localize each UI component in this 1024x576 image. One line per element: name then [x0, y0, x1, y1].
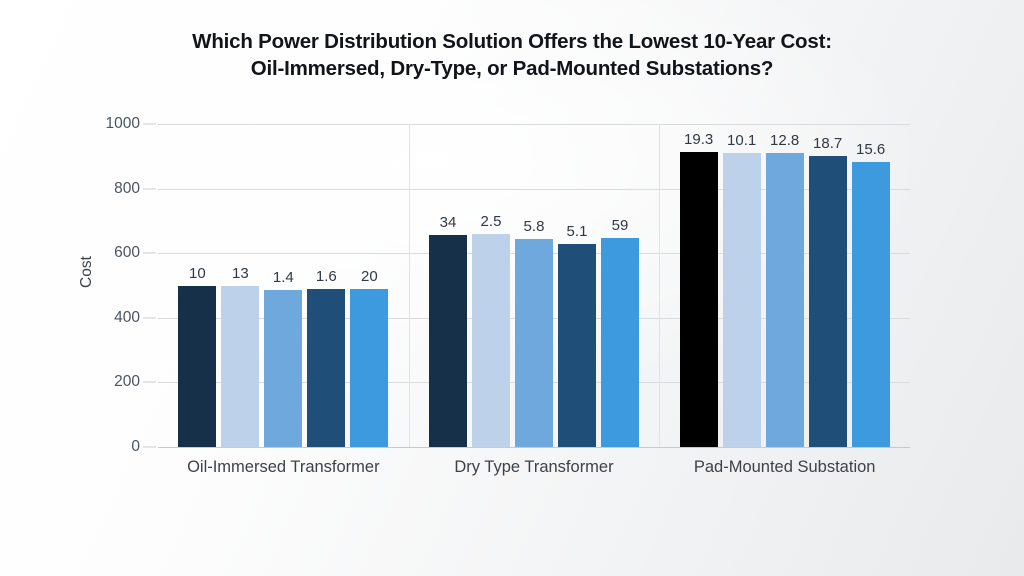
- y-tick-mark-800: [143, 188, 156, 189]
- y-tick-label-400: 400: [114, 309, 140, 327]
- bar-slot: 10: [178, 124, 216, 447]
- bar-slot: 5.8: [515, 124, 553, 447]
- bar[interactable]: [350, 289, 388, 447]
- bar-slot: 15.6: [852, 124, 890, 447]
- bar[interactable]: [472, 234, 510, 447]
- bar[interactable]: [766, 153, 804, 447]
- y-axis-title: Cost: [78, 256, 96, 288]
- bar-value-label: 5.8: [524, 218, 545, 235]
- bar[interactable]: [809, 156, 847, 447]
- y-tick-label-800: 800: [114, 180, 140, 198]
- bar-value-label: 1.4: [273, 269, 294, 286]
- bar-value-label: 10: [189, 265, 206, 282]
- bar-value-label: 12.8: [770, 132, 799, 149]
- bar[interactable]: [852, 162, 890, 447]
- plot-area: 0200400600800100010131.41.620342.55.85.1…: [158, 124, 910, 447]
- y-tick-mark-200: [143, 382, 156, 383]
- bar-value-label: 5.1: [567, 223, 588, 240]
- bar-value-label: 20: [361, 268, 378, 285]
- bars-row: 19.310.112.818.715.6: [659, 124, 910, 447]
- y-tick-mark-0: [143, 447, 156, 448]
- x-category-label-2: Dry Type Transformer: [409, 458, 660, 477]
- gridline-0: [158, 447, 910, 448]
- bar-slot: 34: [429, 124, 467, 447]
- bar-value-label: 1.6: [316, 268, 337, 285]
- bar[interactable]: [429, 235, 467, 447]
- bar-group-1: 10131.41.620: [158, 124, 409, 447]
- bar[interactable]: [307, 289, 345, 447]
- bar-group-3: 19.310.112.818.715.6: [659, 124, 910, 447]
- bar-value-label: 10.1: [727, 132, 756, 149]
- bar-value-label: 18.7: [813, 135, 842, 152]
- bar-slot: 1.6: [307, 124, 345, 447]
- bar[interactable]: [178, 286, 216, 447]
- bars-row: 10131.41.620: [158, 124, 409, 447]
- bar-slot: 18.7: [809, 124, 847, 447]
- chart-title: Which Power Distribution Solution Offers…: [0, 28, 1024, 82]
- bar-slot: 19.3: [680, 124, 718, 447]
- bar-slot: 10.1: [723, 124, 761, 447]
- bar[interactable]: [723, 153, 761, 447]
- bar-value-label: 34: [440, 214, 457, 231]
- chart-title-line-2: Oil-Immersed, Dry-Type, or Pad-Mounted S…: [0, 55, 1024, 82]
- y-tick-label-0: 0: [131, 438, 140, 456]
- bar-group-2: 342.55.85.159: [409, 124, 660, 447]
- bar[interactable]: [558, 244, 596, 447]
- x-category-label-3: Pad-Mounted Substation: [659, 458, 910, 477]
- bar-value-label: 15.6: [856, 141, 885, 158]
- bar[interactable]: [680, 152, 718, 447]
- bar-slot: 1.4: [264, 124, 302, 447]
- bar[interactable]: [515, 239, 553, 447]
- y-tick-label-200: 200: [114, 373, 140, 391]
- y-tick-mark-400: [143, 317, 156, 318]
- bar-slot: 20: [350, 124, 388, 447]
- bar-value-label: 19.3: [684, 131, 713, 148]
- bars-row: 342.55.85.159: [409, 124, 660, 447]
- bar[interactable]: [221, 286, 259, 447]
- chart-canvas: Which Power Distribution Solution Offers…: [0, 0, 1024, 576]
- bar[interactable]: [264, 290, 302, 447]
- chart-title-line-1: Which Power Distribution Solution Offers…: [0, 28, 1024, 55]
- bar-value-label: 59: [612, 217, 629, 234]
- bar-slot: 59: [601, 124, 639, 447]
- bar[interactable]: [601, 238, 639, 447]
- bar-slot: 5.1: [558, 124, 596, 447]
- y-tick-label-1000: 1000: [106, 115, 140, 133]
- bar-slot: 2.5: [472, 124, 510, 447]
- bar-value-label: 13: [232, 265, 249, 282]
- y-tick-label-600: 600: [114, 244, 140, 262]
- y-tick-mark-1000: [143, 124, 156, 125]
- bar-slot: 12.8: [766, 124, 804, 447]
- bar-slot: 13: [221, 124, 259, 447]
- y-tick-mark-600: [143, 253, 156, 254]
- x-category-label-1: Oil-Immersed Transformer: [158, 458, 409, 477]
- bar-value-label: 2.5: [481, 213, 502, 230]
